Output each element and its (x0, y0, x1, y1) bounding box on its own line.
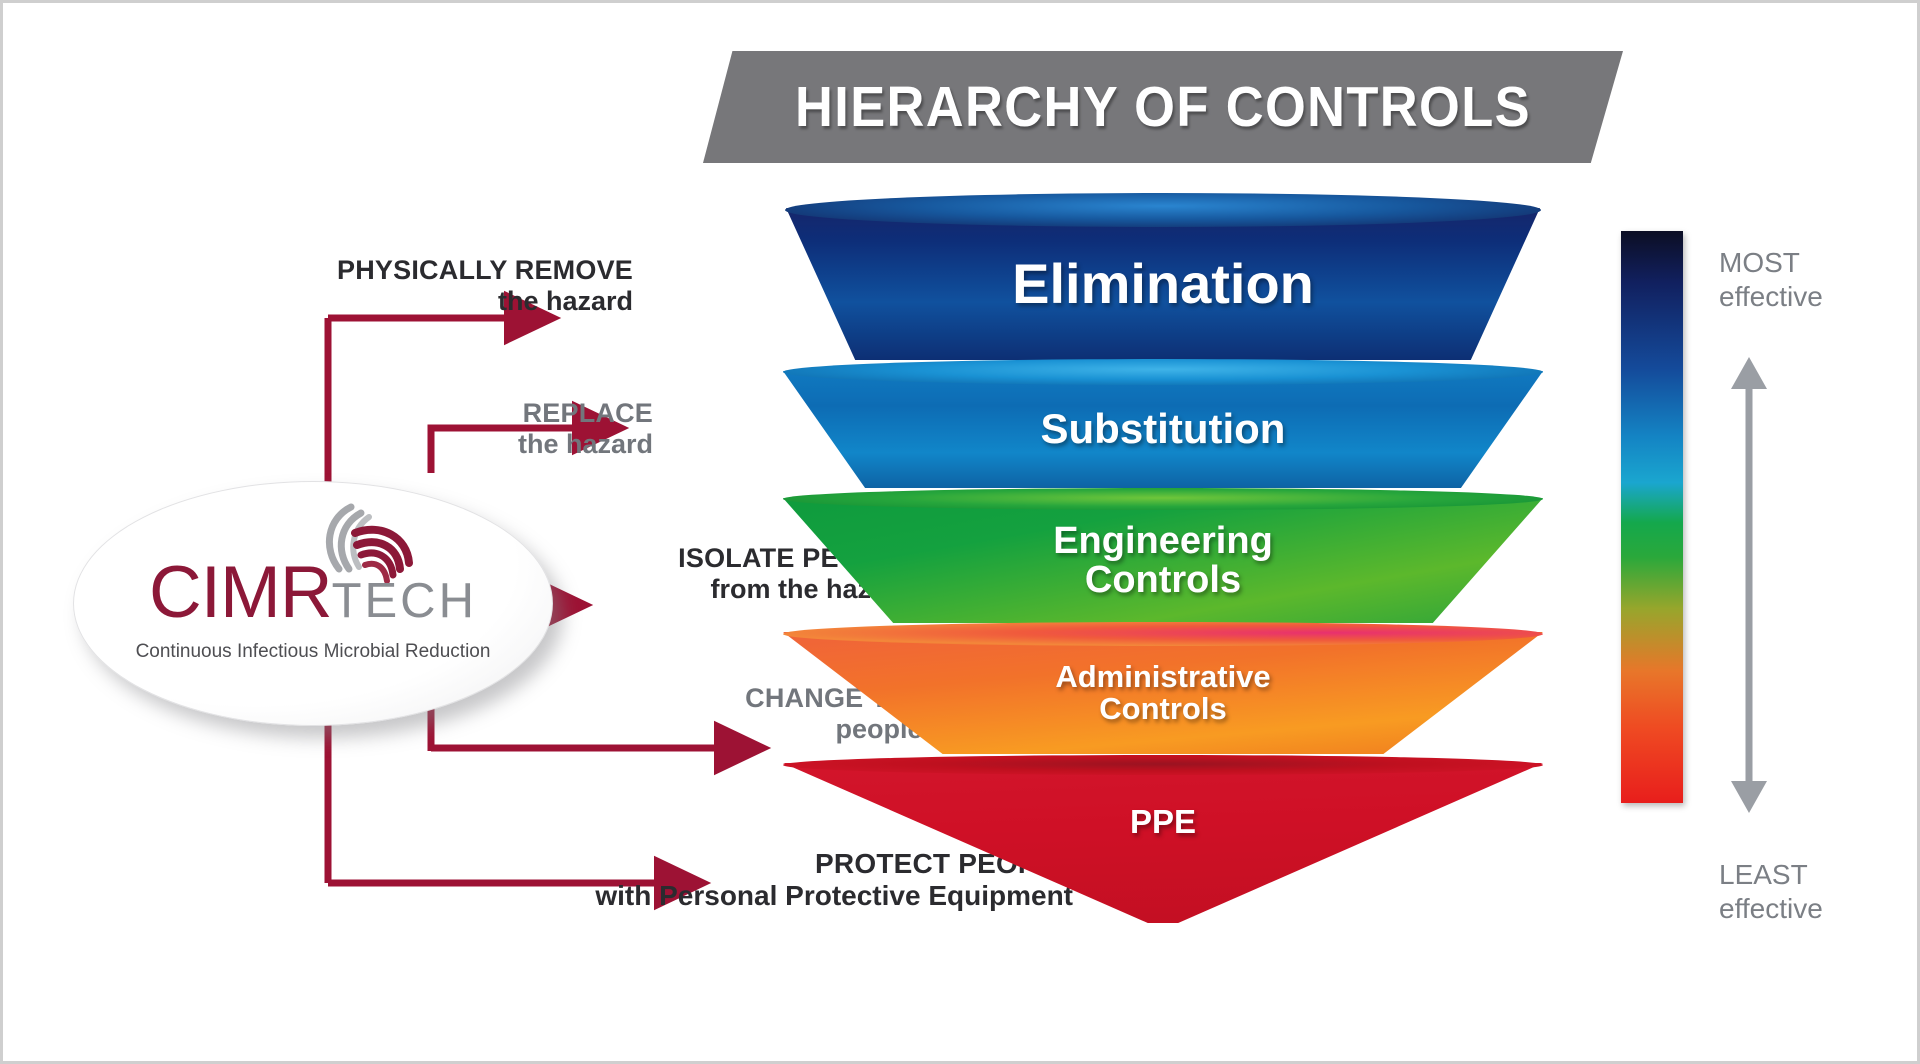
effectiveness-arrow-icon (1727, 355, 1771, 815)
funnel-level-label: Administrative Controls (1055, 661, 1270, 724)
funnel-level-label: Elimination (1012, 255, 1314, 312)
label-line-1: PHYSICALLY REMOVE (333, 255, 633, 286)
funnel-level-rim (783, 755, 1543, 775)
funnel-level-engineering-controls: Engineering Controls (783, 498, 1543, 623)
logo-name-primary: CIMR (149, 552, 332, 633)
logo-name-secondary: TECH (332, 574, 477, 628)
funnel-level-substitution: Substitution (783, 371, 1543, 488)
funnel-level-rim (783, 488, 1543, 510)
label-physically-remove: PHYSICALLY REMOVE the hazard (333, 255, 633, 316)
label-line-2: the hazard (333, 286, 633, 317)
page-title: HIERARCHY OF CONTROLS (740, 51, 1586, 163)
infographic-canvas: HIERARCHY OF CONTROLS PHYSICALLY REMOVE … (0, 0, 1920, 1064)
logo-tagline: Continuous Infectious Microbial Reductio… (73, 641, 553, 663)
funnel-level-ppe: PPE (783, 763, 1543, 923)
label-replace: REPLACE the hazard (403, 398, 653, 459)
funnel-level-rim (783, 622, 1543, 646)
label-line-2: the hazard (403, 429, 653, 460)
title-banner: HIERARCHY OF CONTROLS (703, 51, 1623, 163)
cimr-tech-logo: CIMRTECH Continuous Infectious Microbial… (73, 481, 553, 726)
logo-wordmark: CIMRTECH (73, 551, 553, 634)
label-line-1: REPLACE (403, 398, 653, 429)
funnel-level-label: PPE (1130, 805, 1196, 839)
funnel-level-rim (785, 193, 1542, 227)
scale-label-most-effective: MOST effective (1719, 246, 1823, 313)
funnel-level-label: Engineering Controls (1053, 522, 1273, 600)
effectiveness-color-bar (1621, 231, 1683, 803)
funnel-level-rim (783, 359, 1543, 385)
funnel-level-label: Substitution (1041, 408, 1286, 451)
funnel-level-body (783, 763, 1543, 923)
funnel-level-elimination: Elimination (783, 208, 1543, 360)
scale-label-least-effective: LEAST effective (1719, 858, 1823, 925)
hierarchy-funnel: Elimination Substitution Engineering Con… (783, 208, 1543, 978)
funnel-level-administrative-controls: Administrative Controls (783, 632, 1543, 754)
